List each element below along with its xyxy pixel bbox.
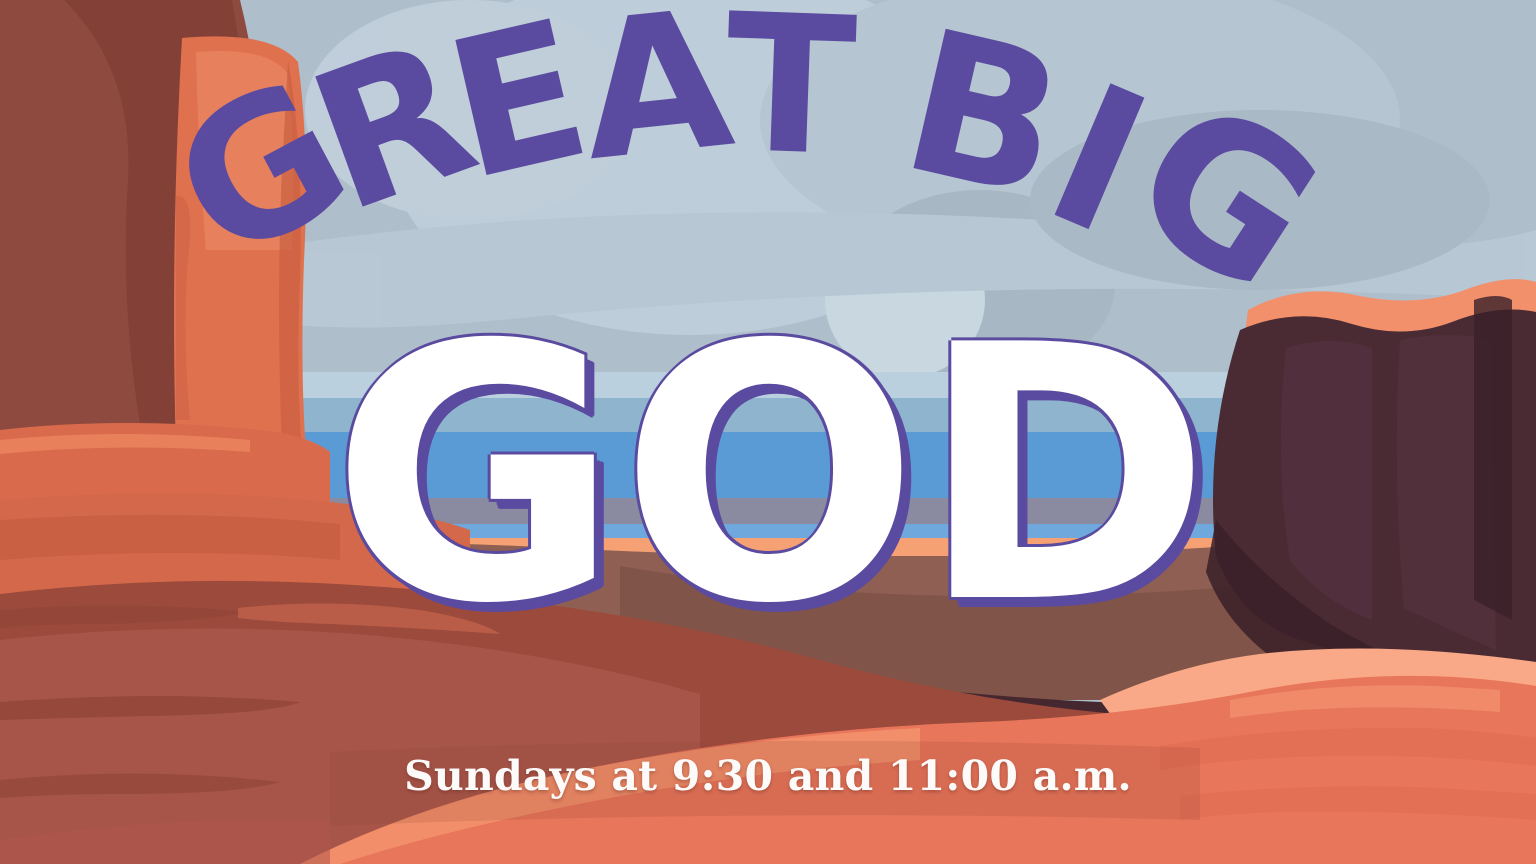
cloud-blob (1030, 110, 1490, 290)
cloud-blob (305, 0, 635, 220)
right-cliff-gap (1474, 296, 1512, 620)
left-cliff-orange-hilite (196, 51, 293, 250)
subtitle-shadow-band (330, 741, 1200, 826)
desert-canyon-artwork (0, 0, 1536, 864)
left-cliff (0, 0, 306, 452)
scene-illustration (0, 0, 1536, 864)
poster-canvas: G R E A T B I G G O D Sundays at 9:30 an… (0, 0, 1536, 864)
